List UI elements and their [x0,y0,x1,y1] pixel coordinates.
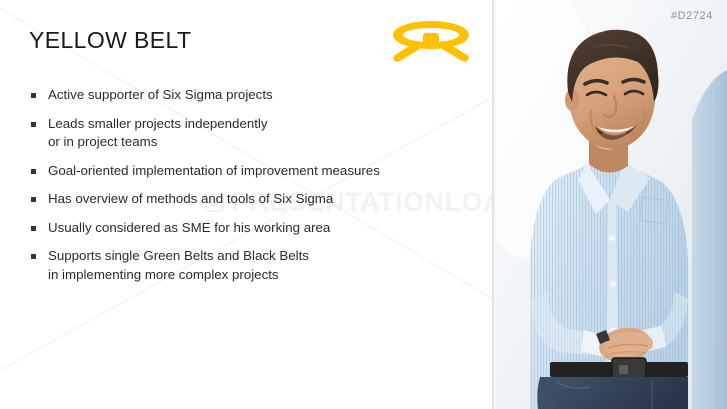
page-title: YELLOW BELT [29,29,191,52]
bullet-text: Has overview of methods and tools of Six… [48,190,333,209]
bullet-list: Active supporter of Six Sigma projects L… [31,86,471,294]
bullet-text: Active supporter of Six Sigma projects [48,86,273,105]
bullet-text: Supports single Green Belts and Black Be… [48,247,309,284]
list-item: Goal-oriented implementation of improvem… [31,162,471,181]
bullet-text: Usually considered as SME for his workin… [48,219,330,238]
content-panel: YELLOW BELT Active supporter of Six Sigm… [0,0,492,409]
photo: #D2724 [492,0,727,409]
list-item: Usually considered as SME for his workin… [31,219,471,238]
template-id-label: #D2724 [671,10,713,22]
bullet-marker-icon [31,226,36,231]
list-item: Supports single Green Belts and Black Be… [31,247,471,284]
bullet-marker-icon [31,93,36,98]
slide-canvas: PRESENTATIONLOAD YELLOW BELT Active supp… [0,0,727,409]
bullet-marker-icon [31,169,36,174]
bullet-text: Leads smaller projects independently or … [48,115,268,152]
list-item: Active supporter of Six Sigma projects [31,86,471,105]
list-item: Leads smaller projects independently or … [31,115,471,152]
list-item: Has overview of methods and tools of Six… [31,190,471,209]
bullet-marker-icon [31,122,36,127]
yellow-belt-icon [391,19,471,63]
bullet-marker-icon [31,197,36,202]
bullet-marker-icon [31,254,36,259]
bullet-text: Goal-oriented implementation of improvem… [48,162,380,181]
